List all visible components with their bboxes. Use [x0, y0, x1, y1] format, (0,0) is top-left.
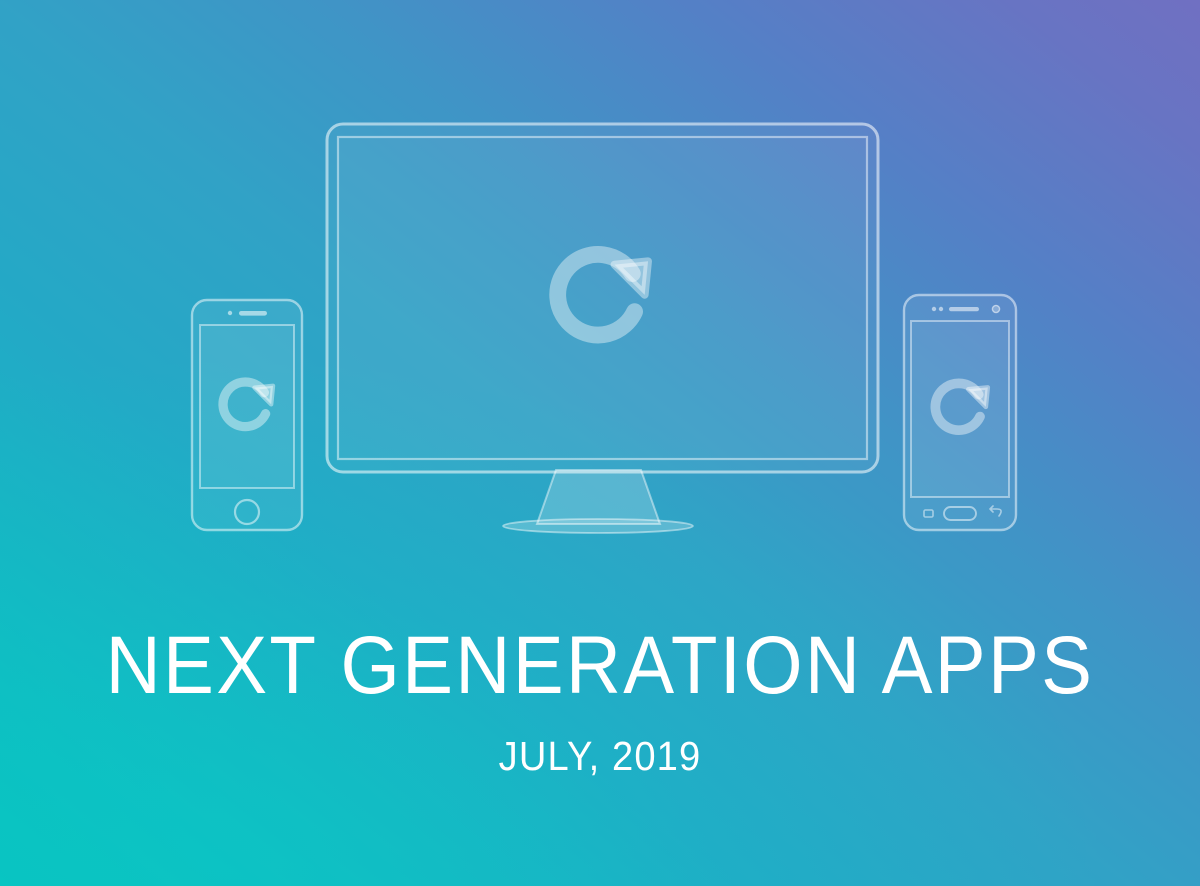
phone-left-speaker-icon — [239, 311, 267, 316]
monitor-stand — [537, 470, 660, 524]
page-title: NEXT GENERATION APPS — [42, 618, 1158, 714]
phone-right-speaker-icon — [949, 307, 979, 311]
phone-left-screen — [200, 325, 294, 488]
phone-right-sensor-icon-2 — [939, 307, 943, 311]
monitor-screen — [338, 137, 867, 459]
slide-canvas: NEXT GENERATION APPS JULY, 2019 — [0, 0, 1200, 886]
phone-right-camera-icon — [992, 305, 999, 312]
device-phone-left — [192, 300, 302, 530]
title-block: NEXT GENERATION APPS JULY, 2019 — [0, 618, 1200, 782]
phone-right-screen — [911, 321, 1009, 497]
device-monitor — [327, 124, 878, 533]
page-subtitle: JULY, 2019 — [42, 730, 1158, 782]
device-phone-right — [904, 295, 1016, 530]
phone-left-camera-icon — [228, 311, 232, 315]
phone-right-sensor-icon — [932, 307, 936, 311]
